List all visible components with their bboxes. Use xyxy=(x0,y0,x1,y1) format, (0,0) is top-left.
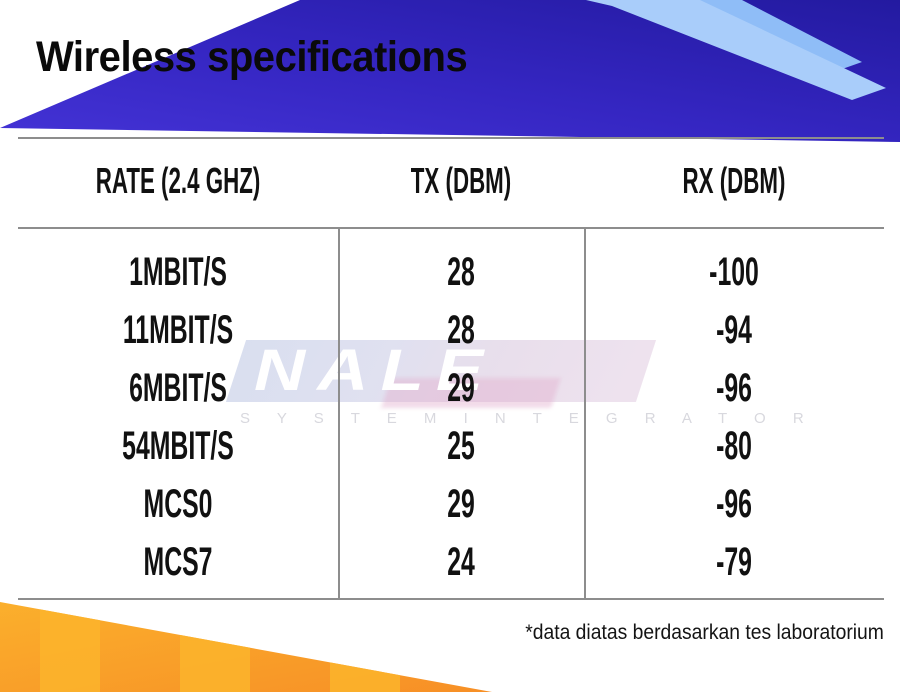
table-header-rate: RATE (2.4 GHZ) xyxy=(79,161,277,201)
arrow-upper-icon xyxy=(536,0,862,74)
bottom-left-decoration xyxy=(0,598,500,692)
footnote-text: *data diatas berdasarkan tes laboratoriu… xyxy=(525,620,884,646)
wireless-spec-table: RATE (2.4 GHZ) TX (DBM) RX (DBM) 1MBIT/S… xyxy=(18,137,884,600)
table-header-tx: TX (DBM) xyxy=(385,161,538,201)
table-row: 54MBIT/S xyxy=(79,424,277,468)
arrow-lower-icon xyxy=(586,0,886,100)
table-bottom-border xyxy=(18,598,884,600)
table-row: MCS7 xyxy=(79,540,277,584)
table-row: 25 xyxy=(385,424,538,468)
table-row: MCS0 xyxy=(79,482,277,526)
table-row: 24 xyxy=(385,540,538,584)
table-row: 6MBIT/S xyxy=(79,366,277,410)
table-row: 1MBIT/S xyxy=(79,250,277,294)
banner-arrow-shapes xyxy=(468,0,886,100)
table-row: -96 xyxy=(641,482,827,526)
page-title: Wireless specifications xyxy=(36,31,467,83)
orange-stripes xyxy=(40,598,400,692)
table-header-rx: RX (DBM) xyxy=(641,161,827,201)
table-top-border xyxy=(18,137,884,139)
slide-canvas: Wireless specifications NALE S Y S T E M… xyxy=(0,0,900,692)
table-row: -96 xyxy=(641,366,827,410)
table-row: 28 xyxy=(385,308,538,352)
table-row: 29 xyxy=(385,482,538,526)
table-row: 29 xyxy=(385,366,538,410)
table-column-divider-2 xyxy=(584,229,586,598)
table-row: -79 xyxy=(641,540,827,584)
table-row: 11MBIT/S xyxy=(79,308,277,352)
table-header-border xyxy=(18,227,884,229)
table-row: -94 xyxy=(641,308,827,352)
table-row: -80 xyxy=(641,424,827,468)
table-row: -100 xyxy=(641,250,827,294)
table-row: 28 xyxy=(385,250,538,294)
table-column-divider-1 xyxy=(338,229,340,598)
